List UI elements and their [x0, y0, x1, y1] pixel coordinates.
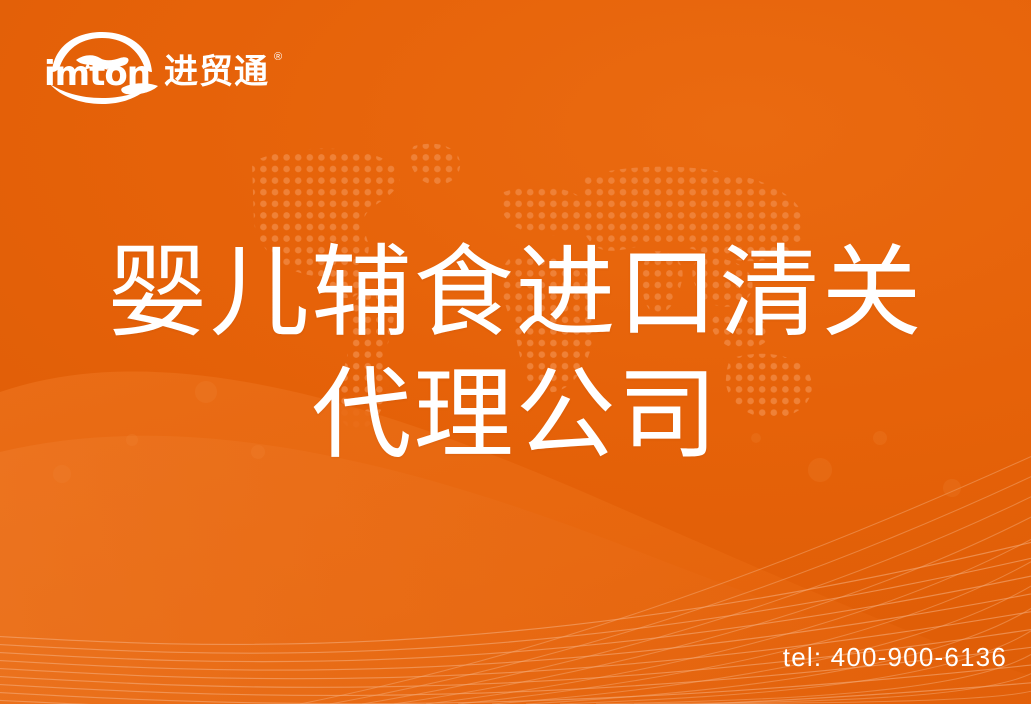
brand-logo[interactable]: imton 进贸通 ® — [36, 26, 251, 108]
promo-banner: imton 进贸通 ® 婴儿辅食进口清关 代理公司 tel: 400-900-6… — [0, 0, 1031, 704]
logo-chinese-name: 进贸通 — [164, 55, 269, 89]
svg-text:imton: imton — [44, 54, 150, 94]
page-title-line-1: 婴儿辅食进口清关 — [0, 232, 1031, 354]
trademark-symbol: ® — [274, 52, 282, 63]
contact-phone[interactable]: tel: 400-900-6136 — [783, 642, 1007, 672]
page-title: 婴儿辅食进口清关 代理公司 — [0, 232, 1031, 476]
page-title-line-2: 代理公司 — [0, 354, 1031, 476]
imton-wordmark: imton — [44, 54, 162, 94]
